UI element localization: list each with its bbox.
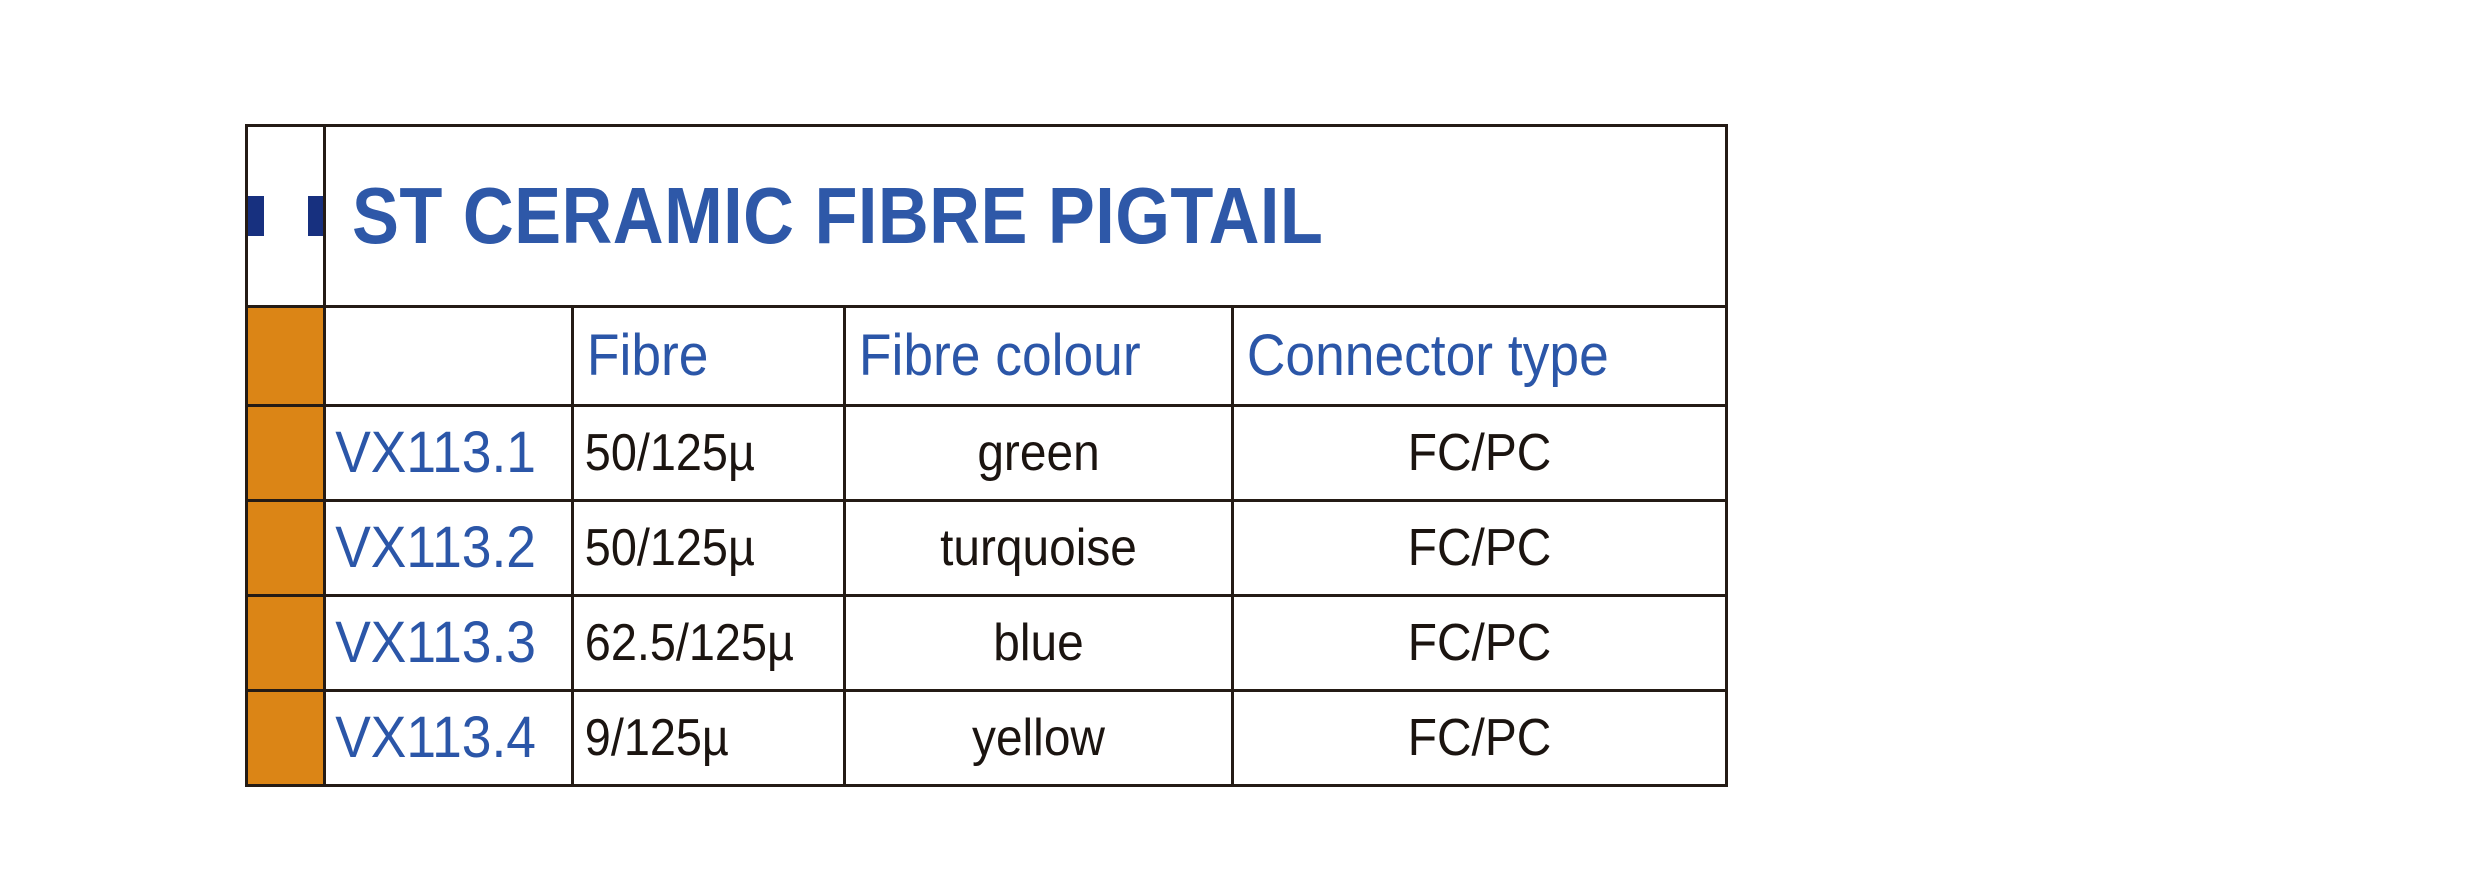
- cell-fibre: 9/125µ: [573, 691, 845, 786]
- column-header-connector: Connector type: [1233, 307, 1727, 406]
- orange-marker-block: [248, 308, 323, 404]
- product-title-cell: ST CERAMIC FIBRE PIGTAIL: [325, 126, 1727, 307]
- cell-code: VX113.2: [325, 501, 573, 596]
- blue-marker-block: [248, 196, 323, 236]
- page-root: ST CERAMIC FIBRE PIGTAIL Fibre Fibre col…: [0, 0, 2474, 896]
- cell-code-value: VX113.4: [326, 709, 551, 767]
- cell-code: VX113.4: [325, 691, 573, 786]
- product-title-row: ST CERAMIC FIBRE PIGTAIL: [247, 126, 1727, 307]
- orange-marker-block: [248, 692, 323, 784]
- cell-fibre: 50/125µ: [573, 406, 845, 501]
- white-square-icon: [264, 196, 308, 236]
- page-title: ST CERAMIC FIBRE PIGTAIL: [352, 176, 1560, 256]
- column-header-connector-label: Connector type: [1234, 327, 1686, 385]
- column-header-colour: Fibre colour: [845, 307, 1233, 406]
- cell-code-value: VX113.2: [326, 519, 551, 577]
- table-row: VX113.2 50/125µ turquoise FC/PC: [247, 501, 1727, 596]
- cell-connector-value: FC/PC: [1254, 522, 1706, 574]
- cell-fibre-value: 50/125µ: [574, 522, 816, 574]
- cell-colour-value: blue: [861, 617, 1215, 669]
- column-header-fibre: Fibre: [573, 307, 845, 406]
- cell-fibre-value: 62.5/125µ: [574, 617, 816, 669]
- column-header-colour-label: Fibre colour: [846, 327, 1200, 385]
- cell-fibre: 50/125µ: [573, 501, 845, 596]
- table-row: VX113.3 62.5/125µ blue FC/PC: [247, 596, 1727, 691]
- cell-fibre-value: 9/125µ: [574, 712, 816, 764]
- cell-colour-value: green: [861, 427, 1215, 479]
- header-marker-cell: [247, 307, 325, 406]
- cell-fibre: 62.5/125µ: [573, 596, 845, 691]
- cell-code: VX113.3: [325, 596, 573, 691]
- cell-connector-value: FC/PC: [1254, 427, 1706, 479]
- table-row: VX113.1 50/125µ green FC/PC: [247, 406, 1727, 501]
- orange-marker-block: [248, 502, 323, 594]
- orange-marker-block: [248, 407, 323, 499]
- row-marker-cell: [247, 596, 325, 691]
- cell-fibre-value: 50/125µ: [574, 427, 816, 479]
- cell-connector: FC/PC: [1233, 406, 1727, 501]
- column-header-code: [325, 307, 573, 406]
- cell-colour-value: turquoise: [861, 522, 1215, 574]
- product-spec-table: ST CERAMIC FIBRE PIGTAIL Fibre Fibre col…: [245, 124, 1728, 787]
- cell-colour: turquoise: [845, 501, 1233, 596]
- cell-code: VX113.1: [325, 406, 573, 501]
- orange-marker-block: [248, 597, 323, 689]
- cell-code-value: VX113.1: [326, 424, 551, 482]
- row-marker-cell: [247, 501, 325, 596]
- cell-connector: FC/PC: [1233, 596, 1727, 691]
- cell-connector: FC/PC: [1233, 501, 1727, 596]
- cell-colour-value: yellow: [861, 712, 1215, 764]
- cell-connector-value: FC/PC: [1254, 712, 1706, 764]
- cell-connector: FC/PC: [1233, 691, 1727, 786]
- cell-colour: yellow: [845, 691, 1233, 786]
- table-header-row: Fibre Fibre colour Connector type: [247, 307, 1727, 406]
- row-marker-cell: [247, 406, 325, 501]
- cell-code-value: VX113.3: [326, 614, 551, 672]
- cell-connector-value: FC/PC: [1254, 617, 1706, 669]
- title-marker-cell: [247, 126, 325, 307]
- row-marker-cell: [247, 691, 325, 786]
- cell-colour: blue: [845, 596, 1233, 691]
- column-header-fibre-label: Fibre: [574, 327, 821, 385]
- cell-colour: green: [845, 406, 1233, 501]
- table-row: VX113.4 9/125µ yellow FC/PC: [247, 691, 1727, 786]
